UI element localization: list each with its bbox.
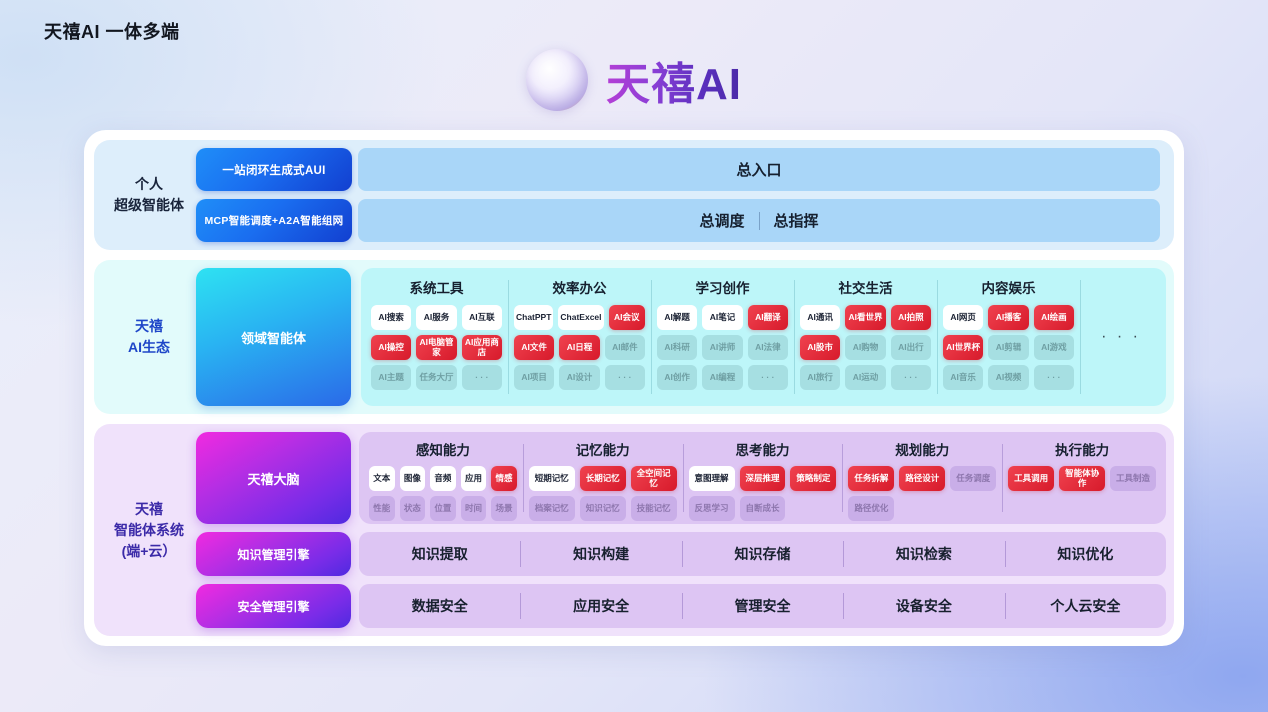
tag-AI视频[interactable]: AI视频 <box>988 365 1028 390</box>
tag-AI会议[interactable]: AI会议 <box>609 305 645 330</box>
capability-column-title: 执行能力 <box>1008 439 1156 459</box>
tag-AI操控[interactable]: AI操控 <box>371 335 411 360</box>
tag-AI应用商店[interactable]: AI应用商店 <box>462 335 502 360</box>
tag-AI互联[interactable]: AI互联 <box>462 305 502 330</box>
tag-grid: AI通讯AI看世界AI拍照AI股市AI购物AI出行AI旅行AI运动· · · <box>800 305 931 390</box>
security-cell-数据安全[interactable]: 数据安全 <box>359 584 520 628</box>
tag-· · ·[interactable]: · · · <box>748 365 788 390</box>
band-agent-system-label: 天禧 智能体系统 (端+云） <box>102 432 196 628</box>
tag-任务大厅[interactable]: 任务大厅 <box>416 365 456 390</box>
tag-row: AI股市AI购物AI出行 <box>800 335 931 360</box>
tag-全空间记忆[interactable]: 全空间记忆 <box>631 466 677 491</box>
tag-路径优化[interactable]: 路径优化 <box>848 496 894 521</box>
band-label-line1: 天禧 <box>135 316 163 337</box>
tag-应用[interactable]: 应用 <box>461 466 487 491</box>
tag-· · ·[interactable]: · · · <box>462 365 502 390</box>
knowledge-cell-知识构建[interactable]: 知识构建 <box>520 532 681 576</box>
tag-grid: AI解题AI笔记AI翻译AI科研AI讲师AI法律AI创作AI编程· · · <box>657 305 788 390</box>
ecosystem-columns: 系统工具AI搜索AI服务AI互联AI操控AI电脑管家AI应用商店AI主题任务大厅… <box>361 268 1166 406</box>
tag-row: AI操控AI电脑管家AI应用商店 <box>371 335 502 360</box>
security-bar: 数据安全应用安全管理安全设备安全个人云安全 <box>359 584 1166 628</box>
security-row: 安全管理引擎 数据安全应用安全管理安全设备安全个人云安全 <box>196 584 1166 628</box>
brand-header: 天禧AI <box>0 48 1268 112</box>
tag-row: AI主题任务大厅· · · <box>371 365 502 390</box>
eco-column-title: 内容娱乐 <box>943 277 1074 297</box>
eco-column-title: 系统工具 <box>371 277 502 297</box>
tag-AI服务[interactable]: AI服务 <box>416 305 456 330</box>
tag-empty <box>1110 496 1156 521</box>
tag-row: AI解题AI笔记AI翻译 <box>657 305 788 330</box>
security-cell-管理安全[interactable]: 管理安全 <box>682 584 843 628</box>
tag-图像[interactable]: 图像 <box>400 466 426 491</box>
tag-位置[interactable]: 位置 <box>430 496 456 521</box>
brand-name: 天禧AI <box>606 48 742 112</box>
tag-AI设计[interactable]: AI设计 <box>559 365 599 390</box>
tag-策略制定[interactable]: 策略制定 <box>790 466 836 491</box>
tag-AI笔记[interactable]: AI笔记 <box>702 305 742 330</box>
tag-row: AI创作AI编程· · · <box>657 365 788 390</box>
tag-深层推理[interactable]: 深层推理 <box>740 466 786 491</box>
tag-AI搜索[interactable]: AI搜索 <box>371 305 411 330</box>
tag-grid: ChatPPTChatExcelAI会议AI文件AI日程AI邮件AI项目AI设计… <box>514 305 645 390</box>
tag-反思学习[interactable]: 反思学习 <box>689 496 735 521</box>
capability-column-执行能力: 执行能力工具调用智能体协作工具制造 <box>1002 438 1162 518</box>
tag-AI通讯[interactable]: AI通讯 <box>800 305 840 330</box>
security-cell-设备安全[interactable]: 设备安全 <box>843 584 1004 628</box>
band-label-line2: 智能体系统 <box>114 520 184 541</box>
tag-grid: 文本图像音频应用情感性能状态位置时间场景 <box>369 466 517 521</box>
band-personal-agent-body: 一站闭环生成式AUI 总入口 MCP智能调度+A2A智能组网 总调度 总指挥 <box>196 148 1166 242</box>
tag-ChatPPT[interactable]: ChatPPT <box>514 305 553 330</box>
eco-column-社交生活: 社交生活AI通讯AI看世界AI拍照AI股市AI购物AI出行AI旅行AI运动· ·… <box>794 274 937 400</box>
tag-empty <box>1059 496 1105 521</box>
band-ecosystem-label: 天禧 AI生态 <box>102 268 196 406</box>
tag-grid: 短期记忆长期记忆全空间记忆档案记忆知识记忆技能记忆 <box>529 466 677 521</box>
tag-智能体协作[interactable]: 智能体协作 <box>1059 466 1105 491</box>
tag-AI游戏[interactable]: AI游戏 <box>1034 335 1074 360</box>
tag-· · ·[interactable]: · · · <box>605 365 645 390</box>
eco-column-效率办公: 效率办公ChatPPTChatExcelAI会议AI文件AI日程AI邮件AI项目… <box>508 274 651 400</box>
tag-row: ChatPPTChatExcelAI会议 <box>514 305 645 330</box>
tag-AI音乐[interactable]: AI音乐 <box>943 365 983 390</box>
tag-工具调用[interactable]: 工具调用 <box>1008 466 1054 491</box>
tag-AI解题[interactable]: AI解题 <box>657 305 697 330</box>
tag-AI法律[interactable]: AI法律 <box>748 335 788 360</box>
tag-row: 工具调用智能体协作工具制造 <box>1008 466 1156 491</box>
brand-orb-icon <box>526 49 588 111</box>
bar-scheduling-label: 总调度 <box>699 210 744 231</box>
tag-row: AI通讯AI看世界AI拍照 <box>800 305 931 330</box>
chip-mcp-a2a[interactable]: MCP智能调度+A2A智能组网 <box>196 199 352 242</box>
chip-tianxi-brain[interactable]: 天禧大脑 <box>196 432 351 524</box>
scheduling-row: MCP智能调度+A2A智能组网 总调度 总指挥 <box>196 199 1160 242</box>
tag-grid: AI网页AI播客AI绘画AI世界杯AI剪辑AI游戏AI音乐AI视频· · · <box>943 305 1074 390</box>
tag-AI股市[interactable]: AI股市 <box>800 335 840 360</box>
tag-意图理解[interactable]: 意图理解 <box>689 466 735 491</box>
tag-性能[interactable]: 性能 <box>369 496 395 521</box>
tag-AI播客[interactable]: AI播客 <box>988 305 1028 330</box>
tag-AI电脑管家[interactable]: AI电脑管家 <box>416 335 456 360</box>
bar-command-label: 总指挥 <box>774 210 819 231</box>
tag-AI运动[interactable]: AI运动 <box>845 365 885 390</box>
tag-empty <box>899 496 945 521</box>
eco-column-学习创作: 学习创作AI解题AI笔记AI翻译AI科研AI讲师AI法律AI创作AI编程· · … <box>651 274 794 400</box>
domain-agent-card[interactable]: 领域智能体 <box>196 268 351 406</box>
tag-row: 档案记忆知识记忆技能记忆 <box>529 496 677 521</box>
knowledge-cell-知识优化[interactable]: 知识优化 <box>1005 532 1166 576</box>
tag-档案记忆[interactable]: 档案记忆 <box>529 496 575 521</box>
tag-时间[interactable]: 时间 <box>461 496 487 521</box>
tag-row: 反思学习自断成长 <box>689 496 837 521</box>
tag-知识记忆[interactable]: 知识记忆 <box>580 496 626 521</box>
tag-row: 性能状态位置时间场景 <box>369 496 517 521</box>
entry-row: 一站闭环生成式AUI 总入口 <box>196 148 1160 191</box>
eco-column-more[interactable]: · · · <box>1080 274 1162 400</box>
tag-AI创作[interactable]: AI创作 <box>657 365 697 390</box>
tag-AI邮件[interactable]: AI邮件 <box>605 335 645 360</box>
tag-row: AI搜索AI服务AI互联 <box>371 305 502 330</box>
knowledge-cell-知识提取[interactable]: 知识提取 <box>359 532 520 576</box>
tag-row: 任务拆解路径设计任务调度 <box>848 466 996 491</box>
tag-row: AI网页AI播客AI绘画 <box>943 305 1074 330</box>
tag-AI编程[interactable]: AI编程 <box>702 365 742 390</box>
band-label-line1: 天禧 <box>135 499 163 520</box>
capability-column-记忆能力: 记忆能力短期记忆长期记忆全空间记忆档案记忆知识记忆技能记忆 <box>523 438 683 518</box>
capability-column-规划能力: 规划能力任务拆解路径设计任务调度路径优化 <box>842 438 1002 518</box>
capability-columns: 感知能力文本图像音频应用情感性能状态位置时间场景记忆能力短期记忆长期记忆全空间记… <box>359 432 1166 524</box>
tag-AI科研[interactable]: AI科研 <box>657 335 697 360</box>
tag-row: 路径优化 <box>848 496 996 521</box>
tag-状态[interactable]: 状态 <box>400 496 426 521</box>
band-personal-agent-label: 个人 超级智能体 <box>102 148 196 242</box>
tag-row: 文本图像音频应用情感 <box>369 466 517 491</box>
tag-任务拆解[interactable]: 任务拆解 <box>848 466 894 491</box>
tag-empty <box>790 496 836 521</box>
tag-row: 短期记忆长期记忆全空间记忆 <box>529 466 677 491</box>
chip-knowledge-engine[interactable]: 知识管理引擎 <box>196 532 351 576</box>
band-label-line2: AI生态 <box>128 337 170 358</box>
tag-AI讲师[interactable]: AI讲师 <box>702 335 742 360</box>
band-label-line1: 个人 <box>135 174 163 195</box>
tag-AI项目[interactable]: AI项目 <box>514 365 554 390</box>
architecture-board: 个人 超级智能体 一站闭环生成式AUI 总入口 MCP智能调度+A2A智能组网 … <box>84 130 1184 646</box>
tag-grid: 工具调用智能体协作工具制造 <box>1008 466 1156 521</box>
bar-main-entry[interactable]: 总入口 <box>358 148 1160 191</box>
band-ecosystem: 天禧 AI生态 领域智能体 系统工具AI搜索AI服务AI互联AI操控AI电脑管家… <box>94 260 1174 414</box>
tag-row <box>1008 496 1156 521</box>
tag-AI出行[interactable]: AI出行 <box>891 335 931 360</box>
tag-empty <box>950 496 996 521</box>
tag-row: AI文件AI日程AI邮件 <box>514 335 645 360</box>
bar-scheduling[interactable]: 总调度 总指挥 <box>358 199 1160 242</box>
capability-column-思考能力: 思考能力意图理解深层推理策略制定反思学习自断成长 <box>683 438 843 518</box>
band-agent-system: 天禧 智能体系统 (端+云） 天禧大脑 感知能力文本图像音频应用情感性能状态位置… <box>94 424 1174 636</box>
tag-AI翻译[interactable]: AI翻译 <box>748 305 788 330</box>
security-cell-应用安全[interactable]: 应用安全 <box>520 584 681 628</box>
tag-AI拍照[interactable]: AI拍照 <box>891 305 931 330</box>
capability-column-title: 感知能力 <box>369 439 517 459</box>
tag-grid: 意图理解深层推理策略制定反思学习自断成长 <box>689 466 837 521</box>
tag-ChatExcel[interactable]: ChatExcel <box>558 305 603 330</box>
capability-column-title: 思考能力 <box>689 439 837 459</box>
ellipsis-icon: · · · <box>1101 328 1141 346</box>
tag-场景[interactable]: 场景 <box>491 496 517 521</box>
tag-技能记忆[interactable]: 技能记忆 <box>631 496 677 521</box>
tag-AI旅行[interactable]: AI旅行 <box>800 365 840 390</box>
tag-row: 意图理解深层推理策略制定 <box>689 466 837 491</box>
tag-row: AI世界杯AI剪辑AI游戏 <box>943 335 1074 360</box>
tag-音频[interactable]: 音频 <box>430 466 456 491</box>
eco-column-title: 学习创作 <box>657 277 788 297</box>
eco-column-系统工具: 系统工具AI搜索AI服务AI互联AI操控AI电脑管家AI应用商店AI主题任务大厅… <box>365 274 508 400</box>
tag-AI世界杯[interactable]: AI世界杯 <box>943 335 983 360</box>
tag-row: AI项目AI设计· · · <box>514 365 645 390</box>
band-label-line3: (端+云） <box>122 541 177 562</box>
tag-任务调度[interactable]: 任务调度 <box>950 466 996 491</box>
capability-column-title: 规划能力 <box>848 439 996 459</box>
tag-empty <box>1008 496 1054 521</box>
divider <box>759 212 760 230</box>
knowledge-bar: 知识提取知识构建知识存储知识检索知识优化 <box>359 532 1166 576</box>
knowledge-row: 知识管理引擎 知识提取知识构建知识存储知识检索知识优化 <box>196 532 1166 576</box>
band-agent-system-body: 天禧大脑 感知能力文本图像音频应用情感性能状态位置时间场景记忆能力短期记忆长期记… <box>196 432 1166 628</box>
tag-短期记忆[interactable]: 短期记忆 <box>529 466 575 491</box>
tag-AI网页[interactable]: AI网页 <box>943 305 983 330</box>
tag-AI日程[interactable]: AI日程 <box>559 335 599 360</box>
tag-· · ·[interactable]: · · · <box>891 365 931 390</box>
page-title: 天禧AI 一体多端 <box>44 18 180 44</box>
capability-column-感知能力: 感知能力文本图像音频应用情感性能状态位置时间场景 <box>363 438 523 518</box>
security-cell-个人云安全[interactable]: 个人云安全 <box>1005 584 1166 628</box>
tag-AI剪辑[interactable]: AI剪辑 <box>988 335 1028 360</box>
tag-· · ·[interactable]: · · · <box>1034 365 1074 390</box>
knowledge-cell-知识存储[interactable]: 知识存储 <box>682 532 843 576</box>
band-personal-agent: 个人 超级智能体 一站闭环生成式AUI 总入口 MCP智能调度+A2A智能组网 … <box>94 140 1174 250</box>
tag-长期记忆[interactable]: 长期记忆 <box>580 466 626 491</box>
eco-column-内容娱乐: 内容娱乐AI网页AI播客AI绘画AI世界杯AI剪辑AI游戏AI音乐AI视频· ·… <box>937 274 1080 400</box>
eco-column-title: 社交生活 <box>800 277 931 297</box>
tag-工具制造[interactable]: 工具制造 <box>1110 466 1156 491</box>
tag-AI绘画[interactable]: AI绘画 <box>1034 305 1074 330</box>
tag-自断成长[interactable]: 自断成长 <box>740 496 786 521</box>
tag-AI看世界[interactable]: AI看世界 <box>845 305 885 330</box>
chip-security-engine[interactable]: 安全管理引擎 <box>196 584 351 628</box>
tag-grid: AI搜索AI服务AI互联AI操控AI电脑管家AI应用商店AI主题任务大厅· · … <box>371 305 502 390</box>
tag-row: AI音乐AI视频· · · <box>943 365 1074 390</box>
knowledge-cell-知识检索[interactable]: 知识检索 <box>843 532 1004 576</box>
band-label-line2: 超级智能体 <box>114 195 184 216</box>
eco-column-title: 效率办公 <box>514 277 645 297</box>
tag-情感[interactable]: 情感 <box>491 466 517 491</box>
tag-row: AI科研AI讲师AI法律 <box>657 335 788 360</box>
brain-row: 天禧大脑 感知能力文本图像音频应用情感性能状态位置时间场景记忆能力短期记忆长期记… <box>196 432 1166 524</box>
chip-aui[interactable]: 一站闭环生成式AUI <box>196 148 352 191</box>
tag-AI文件[interactable]: AI文件 <box>514 335 554 360</box>
tag-路径设计[interactable]: 路径设计 <box>899 466 945 491</box>
tag-row: AI旅行AI运动· · · <box>800 365 931 390</box>
capability-column-title: 记忆能力 <box>529 439 677 459</box>
tag-grid: 任务拆解路径设计任务调度路径优化 <box>848 466 996 521</box>
tag-文本[interactable]: 文本 <box>369 466 395 491</box>
tag-AI购物[interactable]: AI购物 <box>845 335 885 360</box>
tag-AI主题[interactable]: AI主题 <box>371 365 411 390</box>
